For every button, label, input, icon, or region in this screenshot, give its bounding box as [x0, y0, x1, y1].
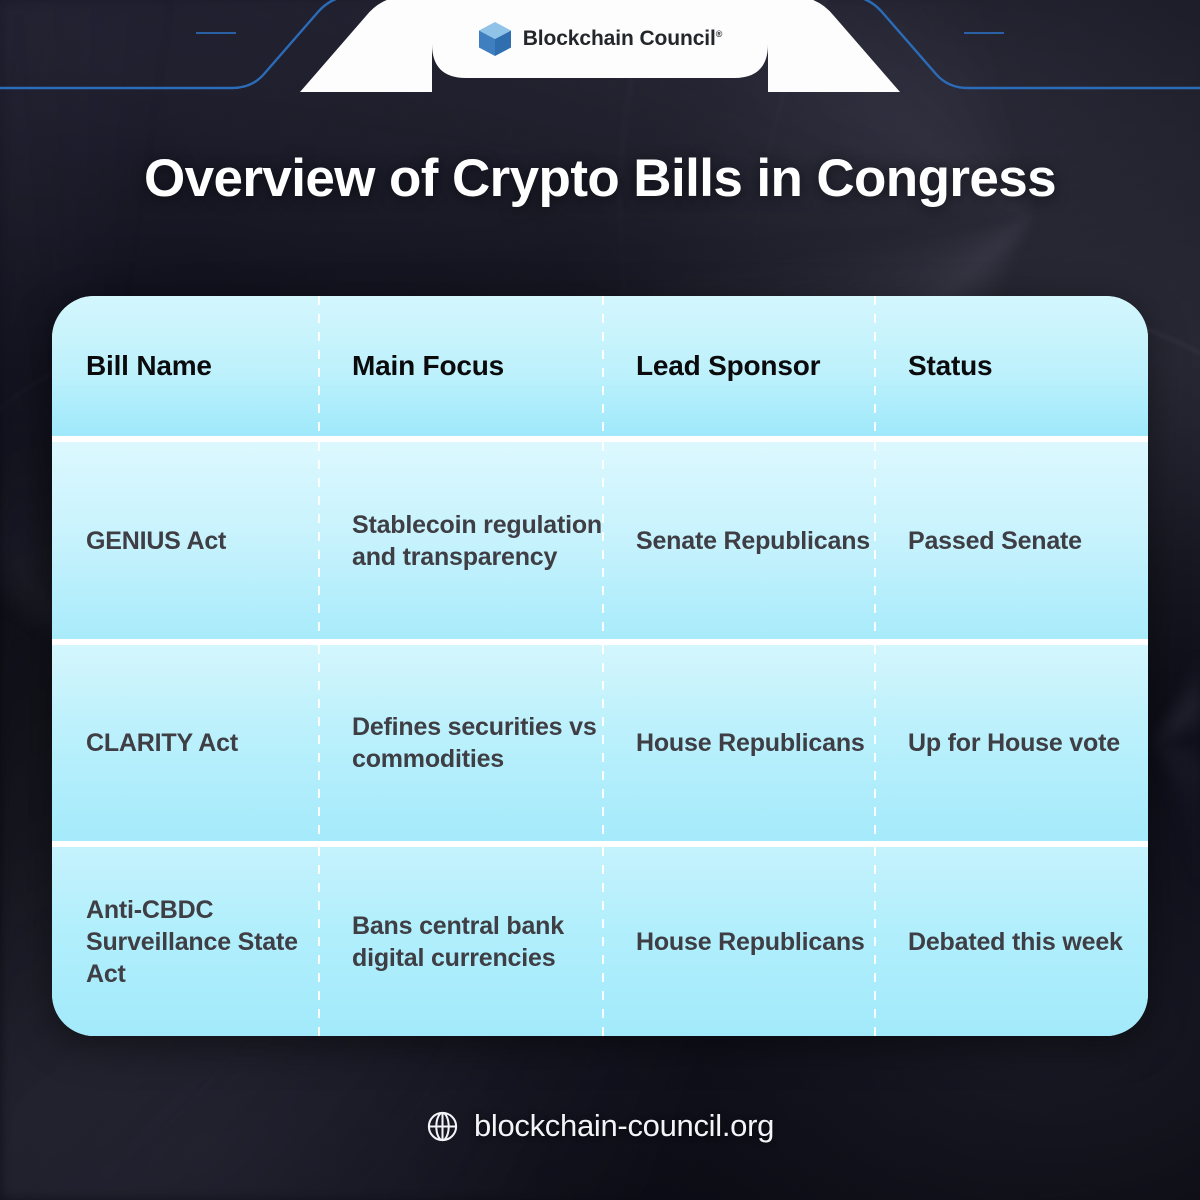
column-header-status[interactable]: Status	[874, 296, 1148, 436]
brand-logo[interactable]: Blockchain Council®	[432, 0, 768, 78]
cell-main-focus: Defines securities vs commodities	[318, 645, 602, 841]
registered-trademark-icon: ®	[716, 29, 723, 39]
brand-logo-label: Blockchain Council	[523, 27, 716, 50]
column-header-lead-sponsor[interactable]: Lead Sponsor	[602, 296, 874, 436]
header-bar: Blockchain Council®	[0, 0, 1200, 92]
table-row: CLARITY Act Defines securities vs commod…	[52, 645, 1148, 841]
cube-logo-icon	[478, 21, 512, 57]
table-row: Anti-CBDC Surveillance State Act Bans ce…	[52, 847, 1148, 1036]
cell-main-focus: Stablecoin regulation and transparency	[318, 442, 602, 640]
footer: blockchain-council.org	[0, 1096, 1200, 1156]
cell-bill-name: CLARITY Act	[52, 645, 318, 841]
page-title: Overview of Crypto Bills in Congress	[0, 148, 1200, 209]
cell-lead-sponsor: House Republicans	[602, 847, 874, 1036]
cell-status: Debated this week	[874, 847, 1148, 1036]
poster-canvas: Blockchain Council® Overview of Crypto B…	[0, 0, 1200, 1200]
column-header-bill-name[interactable]: Bill Name	[52, 296, 318, 436]
cell-bill-name: GENIUS Act	[52, 442, 318, 640]
column-header-main-focus[interactable]: Main Focus	[318, 296, 602, 436]
table-header-row: Bill Name Main Focus Lead Sponsor Status	[52, 296, 1148, 436]
crypto-bills-table: Bill Name Main Focus Lead Sponsor Status…	[52, 296, 1148, 1036]
cell-lead-sponsor: Senate Republicans	[602, 442, 874, 640]
brand-logo-text: Blockchain Council®	[523, 27, 723, 51]
cell-status: Passed Senate	[874, 442, 1148, 640]
cell-bill-name: Anti-CBDC Surveillance State Act	[52, 847, 318, 1036]
website-url[interactable]: blockchain-council.org	[474, 1108, 774, 1144]
table-row: GENIUS Act Stablecoin regulation and tra…	[52, 442, 1148, 640]
cell-status: Up for House vote	[874, 645, 1148, 841]
cell-main-focus: Bans central bank digital currencies	[318, 847, 602, 1036]
globe-icon	[426, 1110, 459, 1143]
cell-lead-sponsor: House Republicans	[602, 645, 874, 841]
